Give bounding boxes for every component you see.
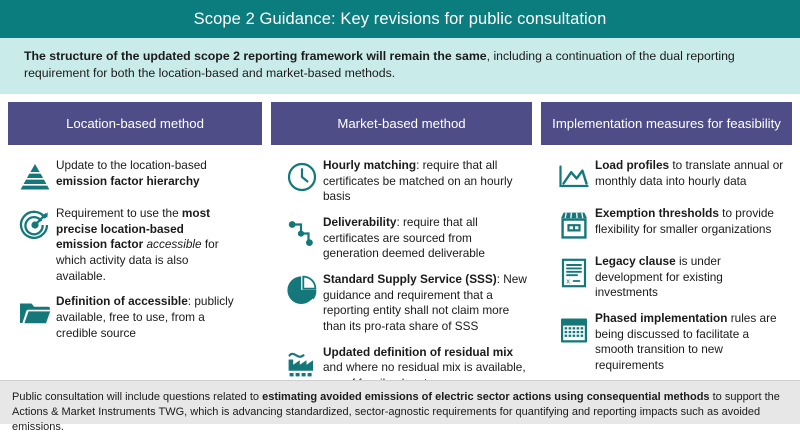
footer-bold: estimating avoided emissions of electric… bbox=[262, 391, 709, 403]
column-market-based: Market-based method Hourly matching: req… bbox=[271, 102, 532, 401]
footer-text: Public consultation will include questio… bbox=[12, 390, 788, 436]
intro-band: The structure of the updated scope 2 rep… bbox=[0, 38, 800, 94]
storefront-icon bbox=[553, 205, 595, 244]
list-item-text: Deliverability: require that all certifi… bbox=[323, 214, 528, 262]
column-header-location-based: Location-based method bbox=[8, 102, 262, 145]
list-item: Standard Supply Service (SSS): New guida… bbox=[281, 271, 528, 335]
page-title: Scope 2 Guidance: Key revisions for publ… bbox=[194, 11, 607, 28]
list-item-text: Exemption thresholds to provide flexibil… bbox=[595, 205, 785, 237]
clock-icon bbox=[281, 157, 323, 196]
list-item: Exemption thresholds to provide flexibil… bbox=[553, 205, 788, 244]
svg-text:x: x bbox=[566, 276, 570, 285]
list-item: x Legacy clause is under development for… bbox=[553, 253, 788, 301]
pie-chart-icon bbox=[281, 271, 323, 310]
list-item: Deliverability: require that all certifi… bbox=[281, 214, 528, 262]
network-nodes-icon bbox=[281, 214, 323, 253]
list-item-text: Hourly matching: require that all certif… bbox=[323, 157, 528, 205]
intro-text: The structure of the updated scope 2 rep… bbox=[24, 48, 778, 83]
document-icon: x bbox=[553, 253, 595, 292]
column-items-implementation-measures: Load profiles to translate annual or mon… bbox=[541, 145, 792, 374]
column-implementation-measures: Implementation measures for feasibility … bbox=[541, 102, 792, 401]
column-title-location-based: Location-based method bbox=[66, 116, 204, 132]
list-item-text: Phased implementation rules are being di… bbox=[595, 310, 785, 374]
list-item: Requirement to use the most precise loca… bbox=[14, 205, 258, 284]
column-header-implementation-measures: Implementation measures for feasibility bbox=[541, 102, 792, 145]
intro-bold-text: The structure of the updated scope 2 rep… bbox=[24, 49, 487, 63]
pyramid-hierarchy-icon bbox=[14, 157, 56, 196]
factory-icon bbox=[281, 344, 323, 383]
column-items-location-based: Update to the location-based emission fa… bbox=[8, 145, 262, 342]
folder-icon bbox=[14, 293, 56, 332]
list-item-text: Definition of accessible: publicly avail… bbox=[56, 293, 234, 341]
list-item: Phased implementation rules are being di… bbox=[553, 310, 788, 374]
column-location-based: Location-based method bbox=[8, 102, 262, 401]
column-title-market-based: Market-based method bbox=[337, 116, 465, 132]
list-item-text: Standard Supply Service (SSS): New guida… bbox=[323, 271, 528, 335]
list-item-text: Legacy clause is under development for e… bbox=[595, 253, 785, 301]
column-title-implementation-measures: Implementation measures for feasibility bbox=[552, 116, 781, 132]
list-item-text: Requirement to use the most precise loca… bbox=[56, 205, 234, 284]
list-item: Definition of accessible: publicly avail… bbox=[14, 293, 258, 341]
column-items-market-based: Hourly matching: require that all certif… bbox=[271, 145, 532, 392]
title-bar: Scope 2 Guidance: Key revisions for publ… bbox=[0, 0, 800, 38]
calendar-icon bbox=[553, 310, 595, 349]
load-profile-chart-icon bbox=[553, 157, 595, 196]
infographic-page: Scope 2 Guidance: Key revisions for publ… bbox=[0, 0, 800, 424]
columns-container: Location-based method bbox=[0, 94, 800, 401]
footer-bar: Public consultation will include questio… bbox=[0, 380, 800, 424]
list-item: Update to the location-based emission fa… bbox=[14, 157, 258, 196]
column-header-market-based: Market-based method bbox=[271, 102, 532, 145]
list-item-text: Update to the location-based emission fa… bbox=[56, 157, 234, 189]
footer-pre: Public consultation will include questio… bbox=[12, 391, 262, 403]
list-item: Load profiles to translate annual or mon… bbox=[553, 157, 788, 196]
list-item: Hourly matching: require that all certif… bbox=[281, 157, 528, 205]
target-arrow-icon bbox=[14, 205, 56, 244]
list-item-text: Load profiles to translate annual or mon… bbox=[595, 157, 785, 189]
